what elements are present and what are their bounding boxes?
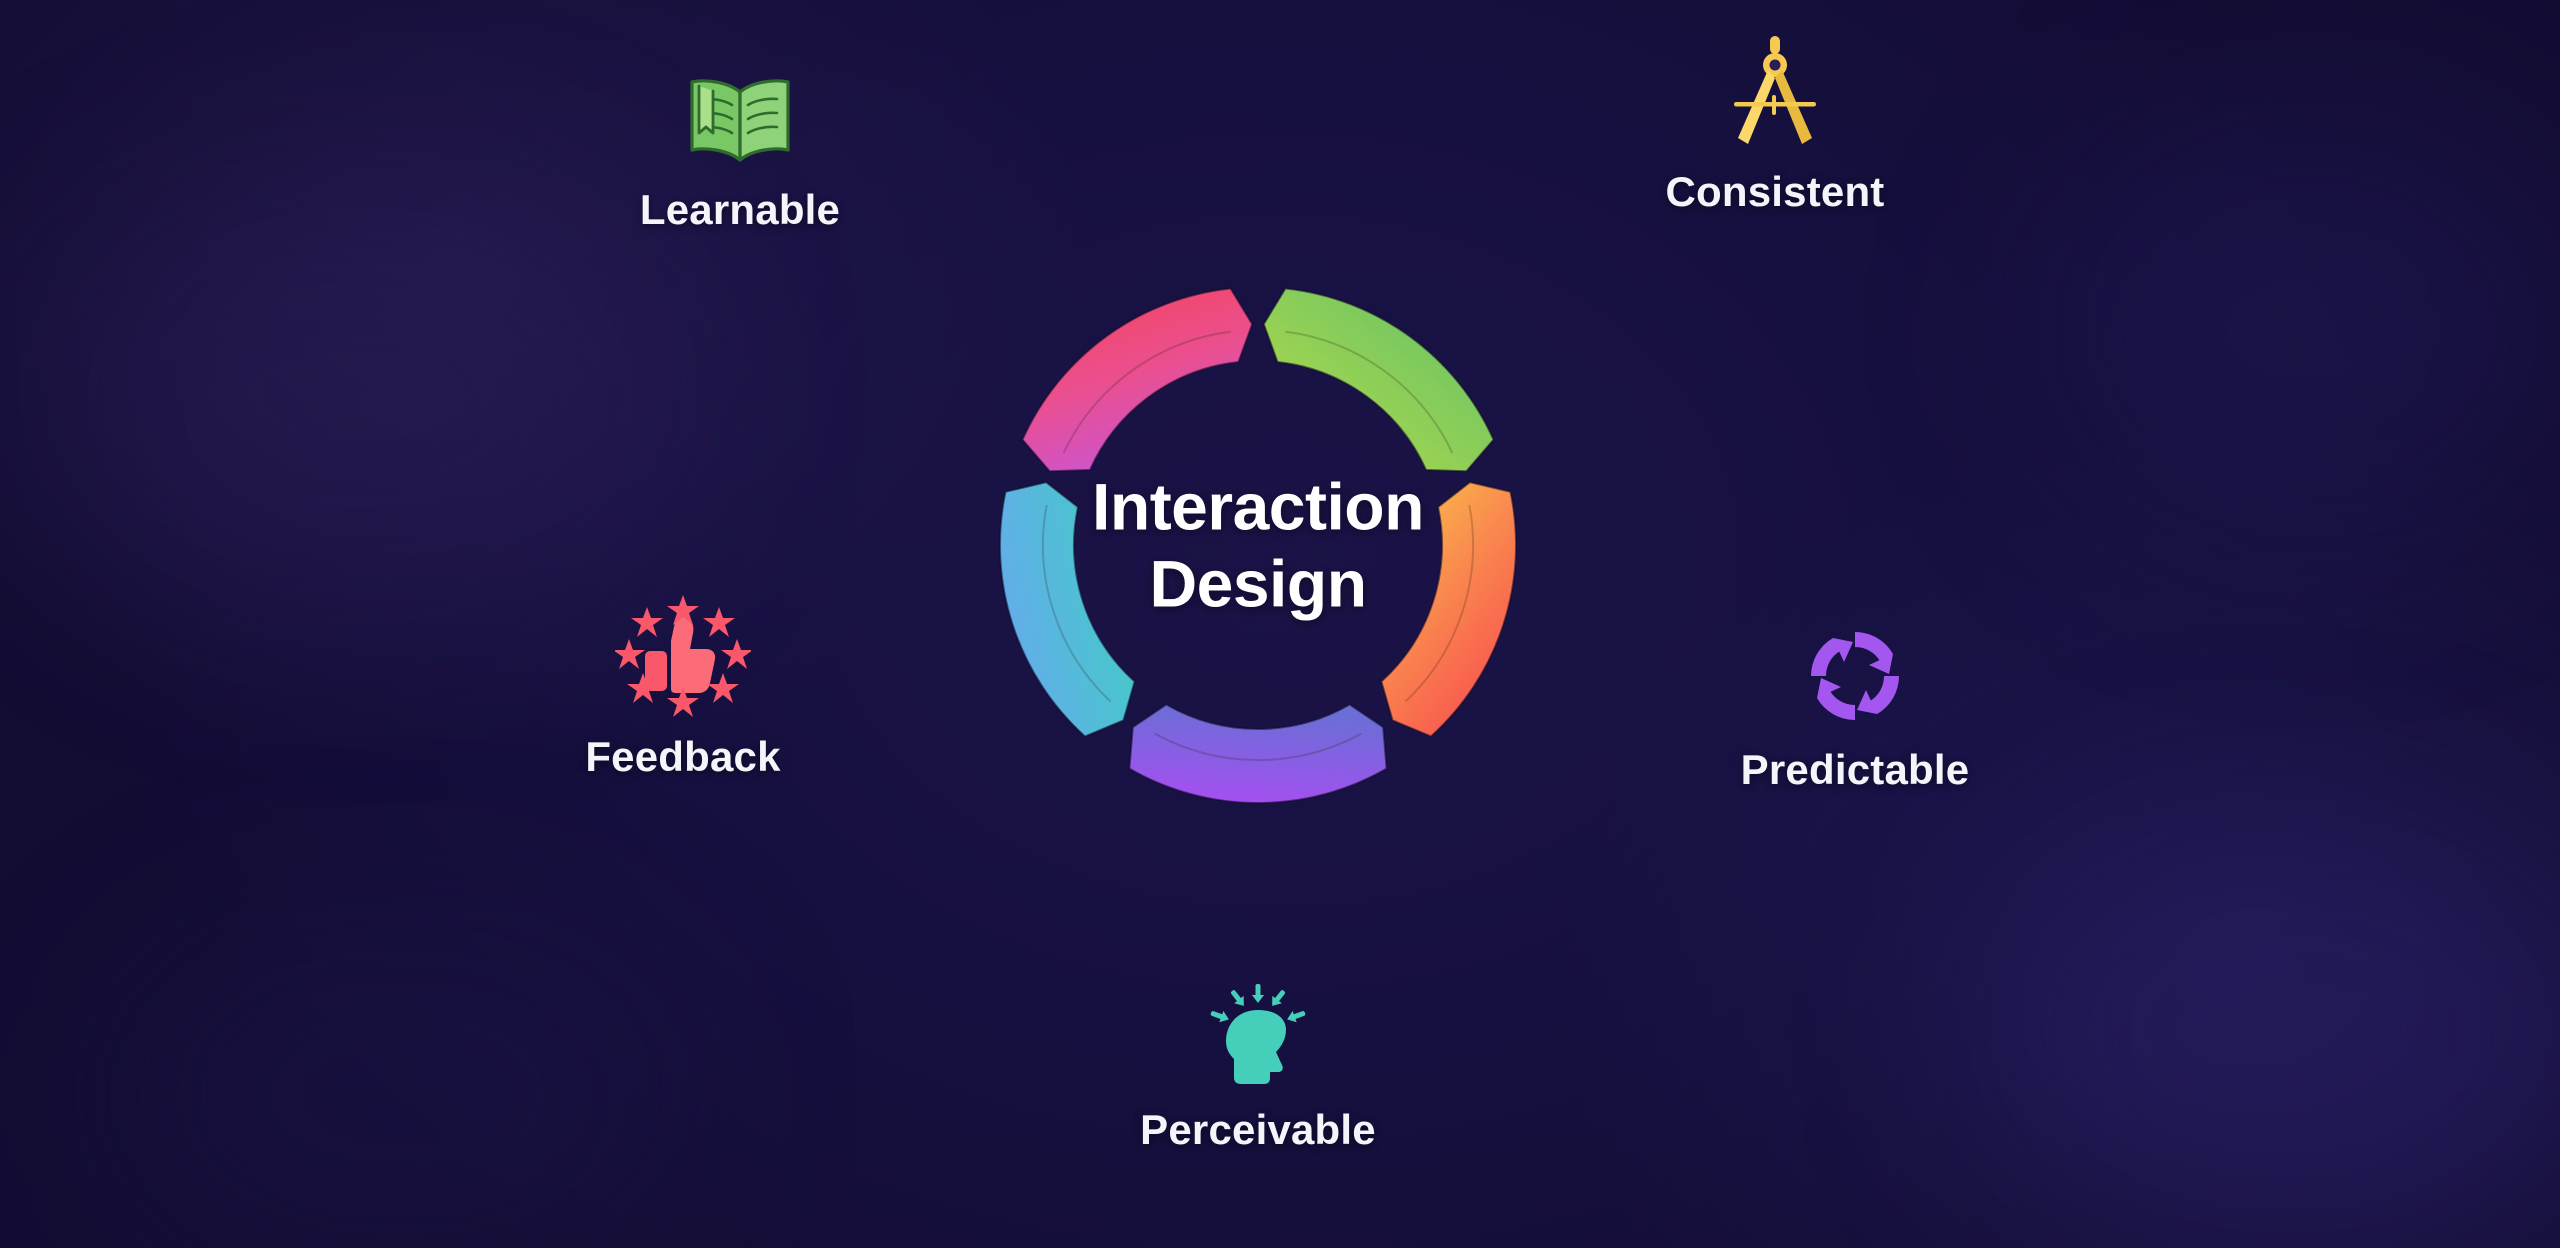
node-learnable[interactable]: Learnable [530, 60, 950, 234]
thumbs-up-stars-icon [473, 607, 893, 717]
infographic-canvas: Interaction Design [0, 0, 2560, 1248]
ring-segment-learnable[interactable] [1264, 288, 1494, 471]
interaction-design-wheel: Interaction Design [0, 0, 2560, 1248]
node-feedback[interactable]: Feedback [473, 607, 893, 781]
node-perceivable[interactable]: Perceivable [1048, 980, 1468, 1154]
node-predictable[interactable]: Predictable [1645, 620, 2065, 794]
node-learnable-label: Learnable [530, 186, 950, 234]
center-title-line1: Interaction [1028, 468, 1488, 545]
node-perceivable-label: Perceivable [1048, 1106, 1468, 1154]
ring-segment-feedback[interactable] [1022, 288, 1252, 471]
head-profile-icon [1048, 980, 1468, 1090]
node-consistent-label: Consistent [1565, 168, 1985, 216]
center-title-line2: Design [1028, 545, 1488, 622]
node-feedback-label: Feedback [473, 733, 893, 781]
wheel-center-title: Interaction Design [1028, 468, 1488, 621]
ring-segment-predictable[interactable] [1129, 705, 1386, 803]
drafting-compass-icon [1565, 42, 1985, 152]
node-consistent[interactable]: Consistent [1565, 42, 1985, 216]
node-predictable-label: Predictable [1645, 746, 2065, 794]
open-book-icon [530, 60, 950, 170]
circular-arrows-icon [1645, 620, 2065, 730]
